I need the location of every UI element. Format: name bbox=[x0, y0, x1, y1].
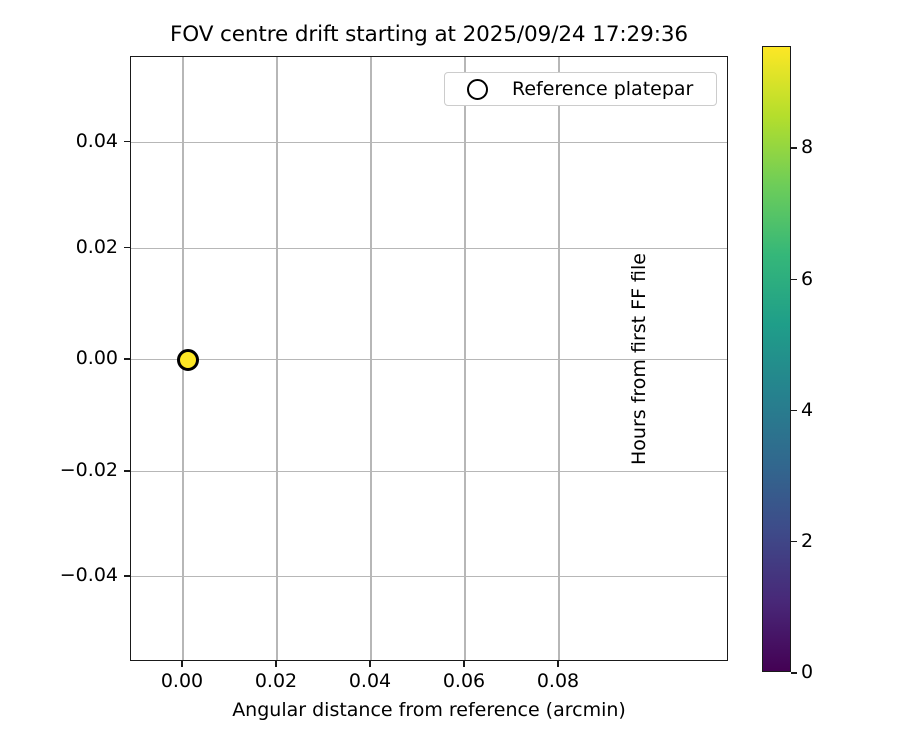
tick-x-0.02 bbox=[275, 661, 277, 667]
colorbar-tick-4 bbox=[791, 410, 797, 412]
ticklabel-y-4: −0.04 bbox=[60, 564, 118, 586]
ticklabel-y-0: 0.04 bbox=[76, 130, 118, 152]
ticklabel-x-2: 0.04 bbox=[349, 670, 391, 692]
legend-label-reference-platepar: Reference platepar bbox=[512, 78, 693, 100]
colorbar-tick-8 bbox=[791, 147, 797, 149]
chart-legend[interactable]: Reference platepar bbox=[444, 72, 717, 106]
ticklabel-x-3: 0.06 bbox=[443, 670, 485, 692]
tick-x-0.08 bbox=[557, 661, 559, 667]
matplotlib-figure: FOV centre drift starting at 2025/09/24 … bbox=[0, 0, 900, 750]
colorbar-ticklabel-2: 4 bbox=[801, 399, 813, 421]
tick-y--0.02 bbox=[124, 470, 130, 472]
tick-y--0.04 bbox=[124, 575, 130, 577]
x-axis-label: Angular distance from reference (arcmin) bbox=[130, 699, 728, 721]
colorbar-tick-2 bbox=[791, 541, 797, 543]
chart-title: FOV centre drift starting at 2025/09/24 … bbox=[130, 22, 728, 47]
ticklabel-y-3: −0.02 bbox=[60, 459, 118, 481]
colorbar-gradient bbox=[763, 47, 790, 671]
colorbar-ticklabel-0: 0 bbox=[801, 661, 813, 683]
tick-x-0.00 bbox=[181, 661, 183, 667]
ticklabel-x-4: 0.08 bbox=[537, 670, 579, 692]
legend-marker-circle-icon bbox=[467, 79, 488, 100]
tick-x-0.06 bbox=[463, 661, 465, 667]
tick-y-0.02 bbox=[124, 247, 130, 249]
tick-y-0.04 bbox=[124, 141, 130, 143]
colorbar-ticklabel-1: 2 bbox=[801, 530, 813, 552]
tick-x-0.04 bbox=[369, 661, 371, 667]
colorbar[interactable] bbox=[762, 46, 791, 672]
ticklabel-y-2: 0.00 bbox=[76, 347, 118, 369]
colorbar-ticklabel-4: 8 bbox=[801, 136, 813, 158]
colorbar-tick-6 bbox=[791, 279, 797, 281]
data-point-reference-platepar[interactable] bbox=[177, 349, 199, 371]
ticklabel-x-1: 0.02 bbox=[255, 670, 297, 692]
tick-y-0.00 bbox=[124, 358, 130, 360]
colorbar-label: Hours from first FF file bbox=[626, 46, 652, 672]
ticklabel-x-0: 0.00 bbox=[161, 670, 203, 692]
colorbar-tick-0 bbox=[791, 672, 797, 674]
colorbar-ticklabel-3: 6 bbox=[801, 268, 813, 290]
ticklabel-y-1: 0.02 bbox=[76, 236, 118, 258]
